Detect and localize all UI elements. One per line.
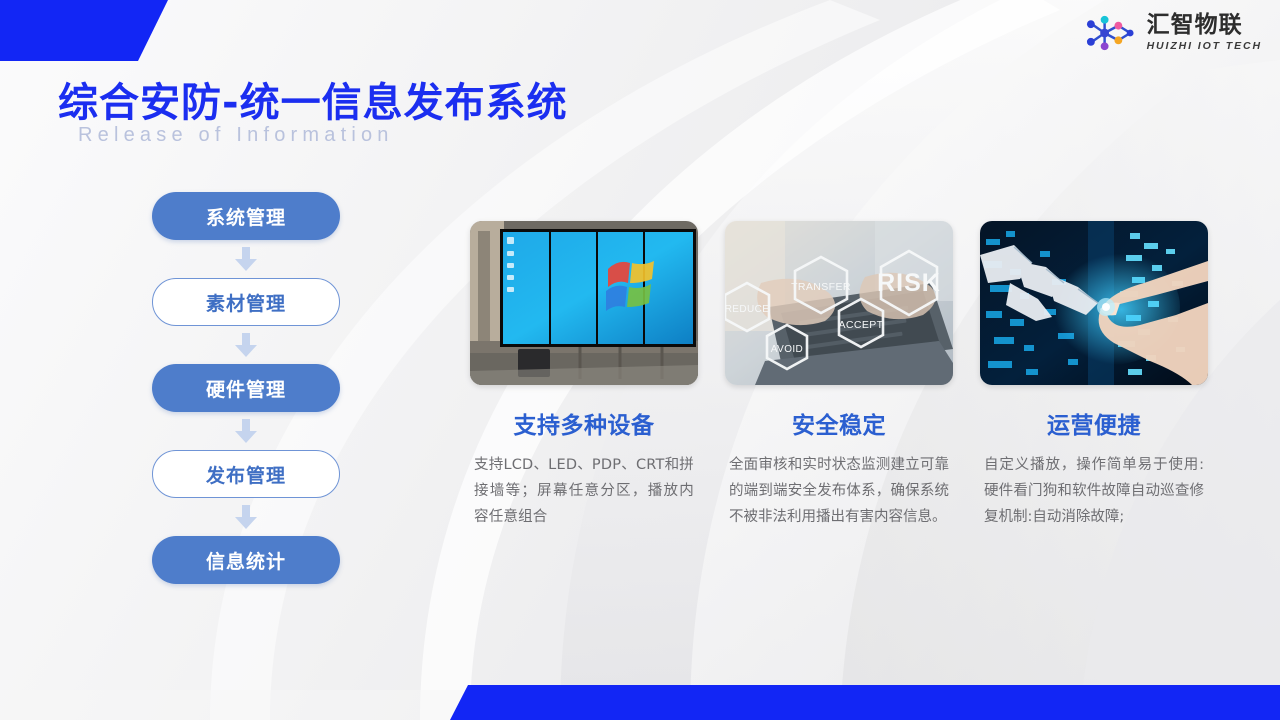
sidebar-item-hardware-management[interactable]: 硬件管理 [152,364,340,412]
sidebar-item-material-management[interactable]: 素材管理 [152,278,340,326]
feature-card: RISK TRANSFER REDUCE ACCEPT AVOID 安全稳定 全… [725,221,953,530]
molecular-network-icon [1084,13,1138,53]
slide-canvas: 汇智物联 HUIZHI IOT TECH 综合安防-统一信息发布系统 Relea… [0,0,1280,720]
robot-human-hand-photo [980,221,1208,385]
sidebar-item-information-statistics[interactable]: 信息统计 [152,536,340,584]
logo-text-en: HUIZHI IOT TECH [1147,41,1262,52]
feature-card: 支持多种设备 支持LCD、LED、PDP、CRT和拼接墙等；屏幕任意分区，播放内… [470,221,698,530]
page-subtitle: Release of Information [78,124,394,147]
flow-item-label: 硬件管理 [206,375,286,402]
corner-accent-bottom-right [450,685,1280,720]
arrow-down-icon [152,240,340,278]
card-body-text: 支持LCD、LED、PDP、CRT和拼接墙等；屏幕任意分区，播放内容任意组合 [470,453,698,530]
card-title: 安全稳定 [725,406,953,440]
flow-item-label: 系统管理 [206,203,286,230]
feature-card: 运营便捷 自定义播放，操作简单易于使用:硬件看门狗和软件故障自动巡查修复机制:自… [980,221,1208,530]
risk-management-photo: RISK TRANSFER REDUCE ACCEPT AVOID [725,221,953,385]
card-body-text: 自定义播放，操作简单易于使用:硬件看门狗和软件故障自动巡查修复机制:自动消除故障… [980,453,1208,530]
arrow-down-icon [152,412,340,450]
process-flow-list: 系统管理 素材管理 硬件管理 发布管理 [152,192,340,584]
brand-logo: 汇智物联 HUIZHI IOT TECH [1084,13,1262,53]
arrow-down-icon [152,326,340,364]
sidebar-item-release-management[interactable]: 发布管理 [152,450,340,498]
sidebar-item-system-management[interactable]: 系统管理 [152,192,340,240]
page-title: 综合安防-统一信息发布系统 [58,70,568,128]
feature-card-list: 支持多种设备 支持LCD、LED、PDP、CRT和拼接墙等；屏幕任意分区，播放内… [470,221,1208,530]
arrow-down-icon [152,498,340,536]
flow-item-label: 素材管理 [206,289,286,316]
flow-item-label: 发布管理 [206,461,286,488]
video-wall-photo [470,221,698,385]
card-title: 运营便捷 [980,406,1208,440]
card-title: 支持多种设备 [470,406,698,440]
card-body-text: 全面审核和实时状态监测建立可靠的端到端安全发布体系，确保系统不被非法利用播出有害… [725,453,953,530]
logo-text-cn: 汇智物联 [1147,14,1262,37]
flow-item-label: 信息统计 [206,547,286,574]
